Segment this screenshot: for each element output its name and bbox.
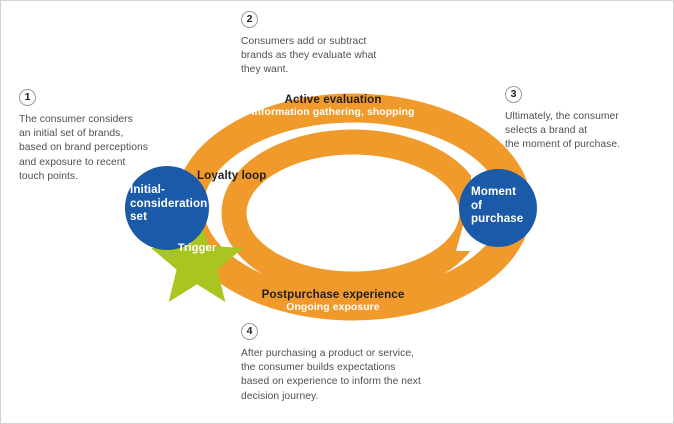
callout-3-text: Ultimately, the consumer selects a brand… xyxy=(505,110,665,153)
callout-3: 3 Ultimately, the consumer selects a bra… xyxy=(505,86,665,153)
callout-4-badge: 4 xyxy=(241,323,258,340)
moment-of-purchase-node xyxy=(459,169,537,247)
callout-1: 1 The consumer considers an initial set … xyxy=(19,89,179,184)
callout-1-badge: 1 xyxy=(19,89,36,106)
callout-2-badge: 2 xyxy=(241,11,258,28)
callout-3-badge: 3 xyxy=(505,86,522,103)
callout-1-text: The consumer considers an initial set of… xyxy=(19,113,179,184)
callout-2: 2 Consumers add or subtract brands as th… xyxy=(241,11,416,78)
callout-2-text: Consumers add or subtract brands as they… xyxy=(241,35,416,78)
loyalty-loop-ring xyxy=(234,142,472,284)
decision-journey-diagram: Active evaluation Information gathering,… xyxy=(0,0,674,424)
callout-4-text: After purchasing a product or service, t… xyxy=(241,347,456,404)
callout-4: 4 After purchasing a product or service,… xyxy=(241,323,456,404)
